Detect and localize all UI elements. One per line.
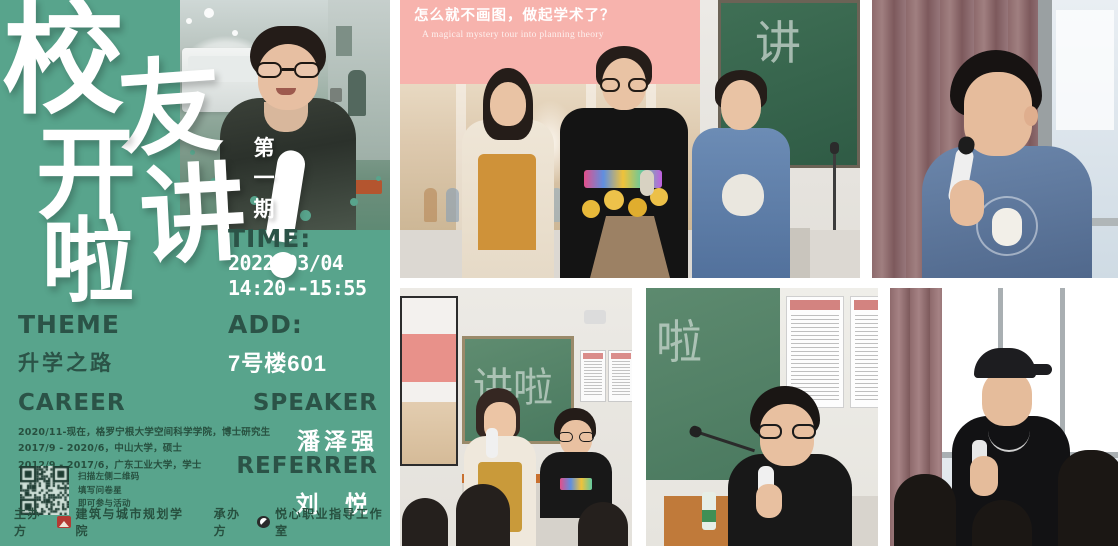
speaker-name: 潘泽强 [253,422,378,456]
wall-notice [850,296,878,408]
headline-char-5: 啦 [42,220,134,305]
jacket-badge [330,88,342,102]
qr-instruction-line: 填写问卷星 [78,484,140,498]
questioner-hand [970,456,998,496]
wall-notice [580,350,606,402]
career-block: CAREER 2020/11-现在，格罗宁根大学空间科学学院，博士研究生 201… [18,392,268,474]
slide-title: 怎么就不画图，做起学术了？ [414,4,616,25]
theme-value: 升学之路 [18,347,120,377]
photo-host-at-podium: 讲啦 [400,288,632,546]
person-left-face [490,82,526,126]
water-bottle [702,492,716,530]
time-label: TIME: [228,226,367,251]
organizer-name: 悦心职业指导工作室 [275,505,390,539]
person-right-face [721,80,761,130]
referrer-label: REFERRER [236,455,378,478]
microphone-stand [833,150,836,230]
career-line: 2017/9 - 2020/6，中山大学，硕士 [18,441,268,457]
organizer-label: 承办方 [214,505,252,539]
career-line: 2020/11-现在，格罗宁根大学空间科学学院，博士研究生 [18,425,268,441]
event-poster: 校 友 开 讲 啦 第一期 TIME: 2022/03/04 14:20--15… [0,0,390,546]
speaker-label: SPEAKER [253,392,378,415]
audience-silhouette [894,474,956,546]
person-left-apron [478,154,536,250]
person-center [560,46,688,278]
time-date-value: 2022/03/04 [228,251,367,276]
address-block: ADD: 7号楼601 [228,312,327,378]
speaker-hand [756,484,782,518]
headline-char-3: 开 [36,130,136,222]
flower-bouquet [576,186,684,278]
wall-notice [608,350,632,402]
host-label: 主办方 [14,505,52,539]
photo-audience-question [890,288,1118,546]
headline-char-1: 校 [2,6,124,118]
audience-silhouette [1058,450,1118,546]
qr-instruction-line: 扫描左侧二维码 [78,470,140,484]
school-crest-icon [57,516,70,528]
chalk-text: 讲 [755,7,801,73]
address-value: 7号楼601 [228,346,327,378]
sweater-print [722,174,764,216]
audience-silhouettes [400,478,632,546]
career-label: CAREER [18,392,268,415]
chalk-text: 啦 [656,306,702,372]
time-block: TIME: 2022/03/04 14:20--15:55 [228,226,367,301]
questioner-face [982,370,1032,426]
photo-student-with-microphone [872,0,1118,278]
person-center-glasses [600,78,648,92]
person-left [462,68,554,278]
wall-speaker-icon [584,310,606,324]
poster-collage-page: 校 友 开 讲 啦 第一期 TIME: 2022/03/04 14:20--15… [0,0,1118,546]
studio-mark-icon [257,516,270,528]
projection-screen-side [400,296,458,466]
speaker-glasses [758,424,816,439]
photo-speaker-seated: 啦 [646,288,878,546]
student-ear [1024,106,1038,126]
window-sky [1056,10,1114,130]
slide-subtitle: A magical mystery tour into planning the… [422,30,604,40]
time-range-value: 14:20--15:55 [228,276,367,301]
theme-label: THEME [18,312,120,337]
person-right [692,70,790,278]
address-label: ADD: [228,312,327,337]
speaker-block: SPEAKER 潘泽强 [253,392,378,456]
shirt-graphic [976,196,1038,256]
issue-number-label: 第一期 [248,133,282,224]
host-name: 建筑与城市规划学院 [76,505,191,539]
student-hand [950,180,984,226]
photo-group-with-flowers: 讲 怎么就不画图，做起学术了？ A magical mystery tour i… [400,0,860,278]
speaker-glasses [256,62,320,78]
chalkboard: 啦 [646,288,780,480]
theme-block: THEME 升学之路 [18,312,120,377]
footer-organizers: 主办方 建筑与城市规划学院 承办方 悦心职业指导工作室 [14,505,390,539]
speaker-hoodie [728,454,852,546]
